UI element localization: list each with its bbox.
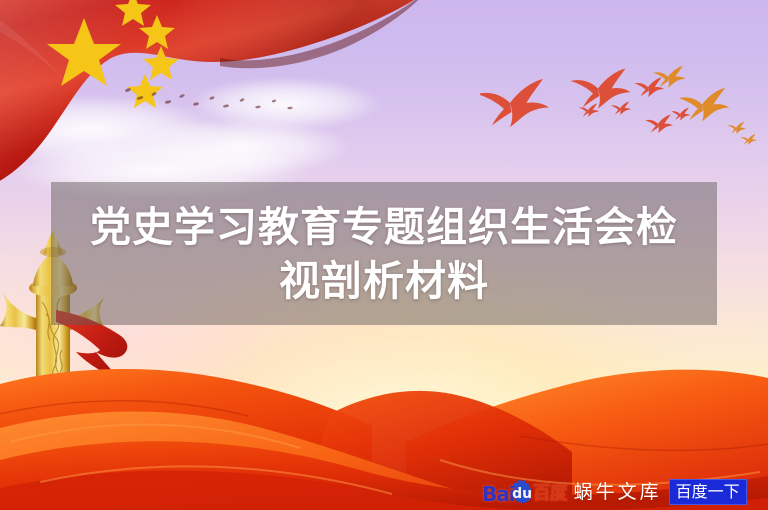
baidu-search-button[interactable]: 百度一下 bbox=[669, 479, 747, 505]
title-overlay-box: 党史学习教育专题组织生活会检 视剖析材料 bbox=[51, 182, 717, 325]
paw-print-icon bbox=[513, 477, 529, 489]
poster-image: 党史学习教育专题组织生活会检 视剖析材料 Bai du 百度 蜗牛文库 百度一下 bbox=[0, 0, 768, 510]
baidu-logo: Bai du 百度 bbox=[482, 480, 567, 504]
poster-title-line-1: 党史学习教育专题组织生活会检 bbox=[90, 200, 678, 254]
watermark-bar: Bai du 百度 蜗牛文库 百度一下 bbox=[482, 478, 747, 506]
poster-title-line-2: 视剖析材料 bbox=[279, 254, 489, 308]
baidu-logo-hanzi: 百度 bbox=[533, 484, 567, 504]
site-name-label: 蜗牛文库 bbox=[574, 481, 662, 503]
baidu-logo-bai-text: Bai bbox=[482, 484, 515, 504]
